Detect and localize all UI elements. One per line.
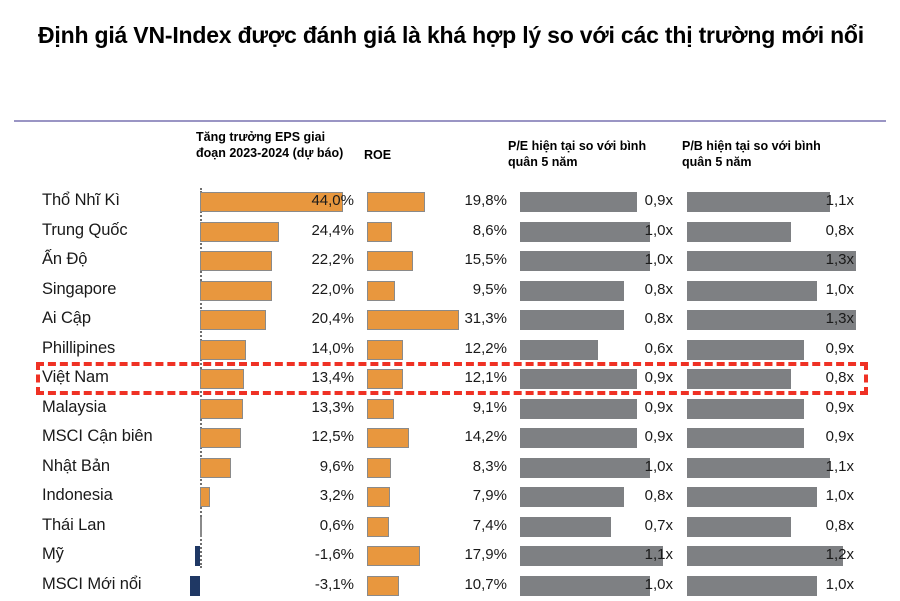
row-country-label: Ấn Độ <box>42 250 87 269</box>
value-roe: 19,8% <box>362 192 507 209</box>
table-row[interactable]: Nhật Bản9,6%8,3%1,0x1,1x <box>14 454 886 484</box>
row-country-label: MSCI Cận biên <box>42 427 153 446</box>
table-row[interactable]: Ấn Độ22,2%15,5%1,0x1,3x <box>14 247 886 277</box>
value-roe: 31,3% <box>362 310 507 327</box>
value-pb: 0,9x <box>684 399 854 416</box>
value-eps: 22,2% <box>204 251 354 268</box>
value-roe: 9,1% <box>362 399 507 416</box>
bar-eps <box>190 576 200 596</box>
value-pe: 1,0x <box>516 251 673 268</box>
value-eps: -3,1% <box>204 576 354 593</box>
table-row[interactable]: MSCI Mới nổi-3,1%10,7%1,0x1,0x <box>14 572 886 601</box>
row-country-label: Indonesia <box>42 486 113 505</box>
value-eps: 44,0% <box>204 192 354 209</box>
table-row[interactable]: Thổ Nhĩ Kì44,0%19,8%0,9x1,1x <box>14 188 886 218</box>
column-header-eps: Tăng trưởng EPS giai đoạn 2023-2024 (dự … <box>196 129 346 162</box>
bar-eps <box>195 546 200 566</box>
table-row[interactable]: Ai Cập20,4%31,3%0,8x1,3x <box>14 306 886 336</box>
value-roe: 12,1% <box>362 369 507 386</box>
row-country-label: MSCI Mới nổi <box>42 575 141 594</box>
value-pe: 1,0x <box>516 576 673 593</box>
value-pb: 1,3x <box>684 310 854 327</box>
table-row[interactable]: Trung Quốc24,4%8,6%1,0x0,8x <box>14 218 886 248</box>
row-country-label: Singapore <box>42 280 116 299</box>
plot-area: Thổ Nhĩ Kì44,0%19,8%0,9x1,1xTrung Quốc24… <box>14 188 886 575</box>
value-roe: 17,9% <box>362 546 507 563</box>
value-pb: 0,9x <box>684 428 854 445</box>
value-eps: 22,0% <box>204 281 354 298</box>
comparison-chart: Tăng trưởng EPS giai đoạn 2023-2024 (dự … <box>14 120 886 575</box>
value-pe: 0,9x <box>516 192 673 209</box>
value-pe: 0,8x <box>516 487 673 504</box>
column-header-pe: P/E hiện tại so với bình quân 5 năm <box>508 138 678 171</box>
value-eps: -1,6% <box>204 546 354 563</box>
value-pb: 1,0x <box>684 281 854 298</box>
row-country-label: Malaysia <box>42 398 106 417</box>
column-header-pb: P/B hiện tại so với bình quân 5 năm <box>682 138 852 171</box>
value-pe: 1,0x <box>516 458 673 475</box>
value-eps: 0,6% <box>204 517 354 534</box>
value-pe: 0,8x <box>516 281 673 298</box>
value-pb: 1,3x <box>684 251 854 268</box>
value-roe: 7,4% <box>362 517 507 534</box>
value-pe: 0,9x <box>516 399 673 416</box>
value-pe: 0,7x <box>516 517 673 534</box>
row-country-label: Thổ Nhĩ Kì <box>42 191 120 210</box>
column-header-roe: ROE <box>364 147 464 163</box>
value-pb: 0,8x <box>684 369 854 386</box>
value-roe: 8,6% <box>362 222 507 239</box>
value-roe: 15,5% <box>362 251 507 268</box>
row-country-label: Ai Cập <box>42 309 91 328</box>
value-eps: 13,4% <box>204 369 354 386</box>
row-country-label: Thái Lan <box>42 516 105 535</box>
table-row[interactable]: Malaysia13,3%9,1%0,9x0,9x <box>14 395 886 425</box>
row-country-label: Phillipines <box>42 339 115 358</box>
value-pb: 0,8x <box>684 517 854 534</box>
value-pb: 1,1x <box>684 192 854 209</box>
table-row[interactable]: Mỹ-1,6%17,9%1,1x1,2x <box>14 542 886 572</box>
value-roe: 8,3% <box>362 458 507 475</box>
row-country-label: Trung Quốc <box>42 221 128 240</box>
value-roe: 7,9% <box>362 487 507 504</box>
value-pe: 0,9x <box>516 428 673 445</box>
value-eps: 20,4% <box>204 310 354 327</box>
table-row[interactable]: Việt Nam13,4%12,1%0,9x0,8x <box>14 365 886 395</box>
value-pe: 1,0x <box>516 222 673 239</box>
value-pb: 1,0x <box>684 487 854 504</box>
value-pb: 1,0x <box>684 576 854 593</box>
value-pb: 1,2x <box>684 546 854 563</box>
value-roe: 10,7% <box>362 576 507 593</box>
value-pb: 0,9x <box>684 340 854 357</box>
value-eps: 13,3% <box>204 399 354 416</box>
value-pb: 1,1x <box>684 458 854 475</box>
table-row[interactable]: Singapore22,0%9,5%0,8x1,0x <box>14 277 886 307</box>
value-eps: 24,4% <box>204 222 354 239</box>
table-row[interactable]: Indonesia3,2%7,9%0,8x1,0x <box>14 483 886 513</box>
value-eps: 9,6% <box>204 458 354 475</box>
bar-eps <box>200 517 202 537</box>
value-roe: 14,2% <box>362 428 507 445</box>
table-row[interactable]: Phillipines14,0%12,2%0,6x0,9x <box>14 336 886 366</box>
value-pe: 1,1x <box>516 546 673 563</box>
page-title: Định giá VN-Index được đánh giá là khá h… <box>38 20 868 51</box>
table-row[interactable]: MSCI Cận biên12,5%14,2%0,9x0,9x <box>14 424 886 454</box>
value-eps: 14,0% <box>204 340 354 357</box>
value-pe: 0,6x <box>516 340 673 357</box>
table-row[interactable]: Thái Lan0,6%7,4%0,7x0,8x <box>14 513 886 543</box>
value-pe: 0,8x <box>516 310 673 327</box>
header-divider <box>14 120 886 122</box>
value-pe: 0,9x <box>516 369 673 386</box>
value-roe: 12,2% <box>362 340 507 357</box>
value-eps: 12,5% <box>204 428 354 445</box>
value-eps: 3,2% <box>204 487 354 504</box>
row-country-label: Mỹ <box>42 545 64 564</box>
value-roe: 9,5% <box>362 281 507 298</box>
value-pb: 0,8x <box>684 222 854 239</box>
row-country-label: Việt Nam <box>42 368 109 387</box>
row-country-label: Nhật Bản <box>42 457 110 476</box>
